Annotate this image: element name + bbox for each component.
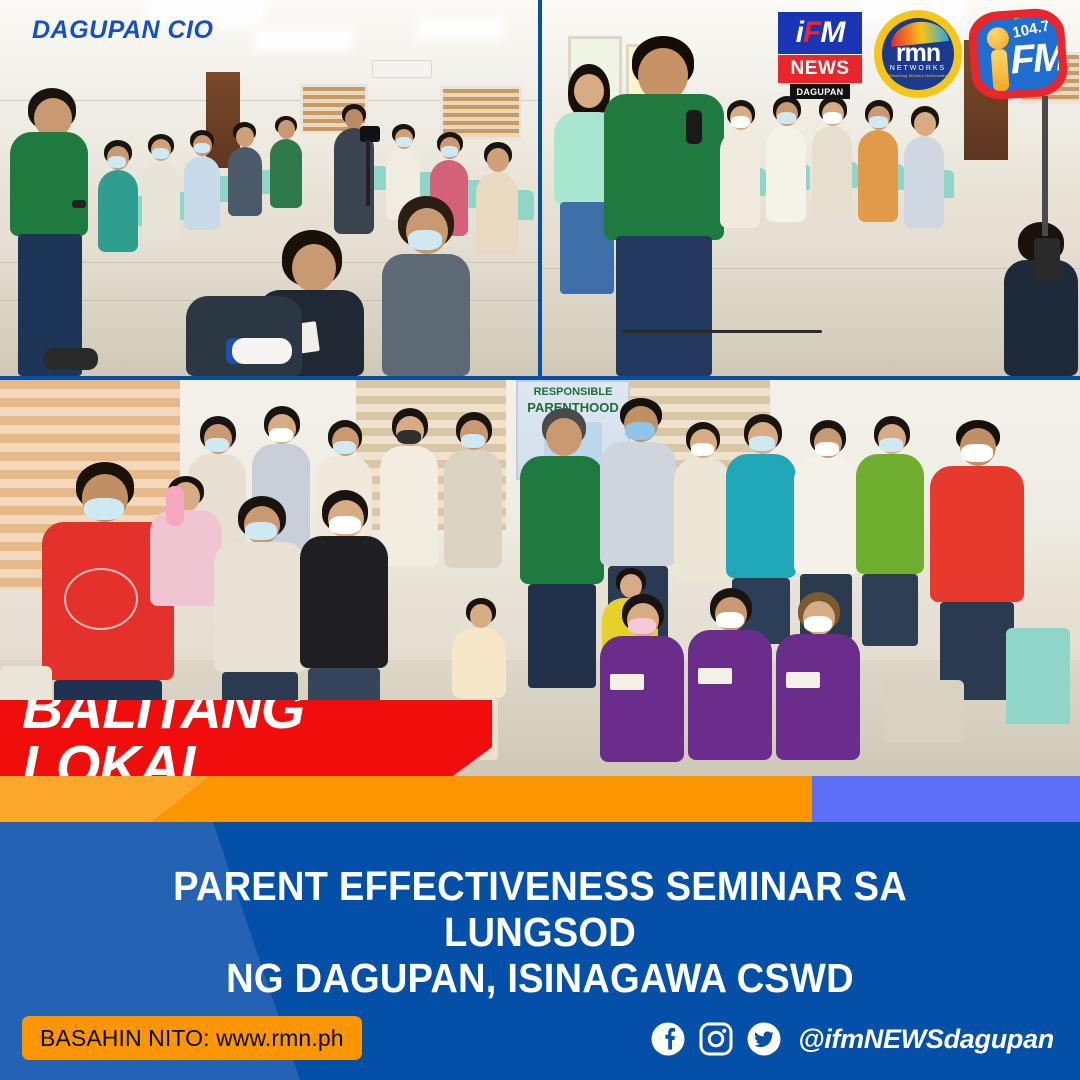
ifm-i-dot-icon xyxy=(986,27,1009,50)
facebook-icon[interactable] xyxy=(650,1021,686,1057)
headline-line-1: PARENT EFFECTIVENESS SEMINAR SA LUNGSOD xyxy=(94,864,987,956)
dagupan-cio-watermark: DAGUPAN CIO xyxy=(32,16,213,45)
instagram-icon[interactable] xyxy=(698,1021,734,1057)
rmn-networks-label: NETWORKS xyxy=(890,65,946,72)
group-member xyxy=(672,422,732,580)
read-more-label: BASAHIN NITO: www.rmn.ph xyxy=(40,1025,344,1052)
headline-line-2: NG DAGUPAN, ISINAGAWA CSWD xyxy=(94,956,987,1002)
attendee xyxy=(810,96,854,220)
air-conditioner xyxy=(372,60,432,78)
bag xyxy=(884,680,964,742)
read-more-pill[interactable]: BASAHIN NITO: www.rmn.ph xyxy=(22,1016,362,1060)
news-label: NEWS xyxy=(791,58,850,80)
ifm-i-stem-icon xyxy=(991,49,1010,92)
ceiling-light xyxy=(418,22,501,36)
attendee xyxy=(474,142,520,254)
foreground-attendee xyxy=(378,196,474,376)
speaker-person xyxy=(8,88,94,376)
ifm-fm-label: FM xyxy=(1009,37,1060,81)
cswd-officer xyxy=(520,408,606,688)
dagupan-label: DAGUPAN xyxy=(797,87,844,97)
ifm-inner-shape: DAGUPAN 104.7 FM xyxy=(976,15,1061,92)
headline: PARENT EFFECTIVENESS SEMINAR SA LUNGSOD … xyxy=(94,864,987,1002)
ifm-wordmark: iFM xyxy=(778,12,862,54)
staff-kneeling xyxy=(600,594,686,762)
attendee xyxy=(718,100,762,228)
dagupan-tag: DAGUPAN xyxy=(790,84,850,99)
group-member xyxy=(856,416,926,646)
rmn-inner-disc: rmn NETWORKS Reaching Millions Nationwid… xyxy=(882,18,954,90)
staff-kneeling xyxy=(688,588,774,760)
ifm-news-dagupan-logo: iFM NEWS DAGUPAN xyxy=(772,8,868,100)
news-graphic-poster: RESPONSIBLE PARENTHOOD xyxy=(0,0,1080,1080)
attendee xyxy=(96,140,140,252)
social-handle[interactable]: @ifmNEWSdagupan xyxy=(798,1024,1054,1055)
child xyxy=(150,476,224,676)
photo-top-left xyxy=(0,0,538,376)
attendee xyxy=(182,130,222,230)
microphone xyxy=(686,110,702,144)
rmn-tagline: Reaching Millions Nationwide xyxy=(889,73,947,78)
rmn-networks-logo: rmn NETWORKS Reaching Millions Nationwid… xyxy=(874,10,962,98)
social-links: @ifmNEWSdagupan xyxy=(650,1018,1054,1060)
twitter-icon[interactable] xyxy=(746,1021,782,1057)
balitang-lokal-banner: BALITANG LOKAL xyxy=(0,700,492,776)
attendee xyxy=(268,116,304,208)
staff-kneeling xyxy=(776,592,862,760)
shoe xyxy=(232,338,292,364)
tripod-pole xyxy=(1042,96,1048,236)
attendee xyxy=(226,122,264,216)
logo-group: iFM NEWS DAGUPAN rmn NETWORKS Reaching M… xyxy=(772,8,1068,100)
cable xyxy=(622,330,822,333)
accent-bar xyxy=(0,776,1080,822)
shoe xyxy=(44,348,98,370)
ceiling xyxy=(0,0,538,98)
ifm-104-7-logo: DAGUPAN 104.7 FM xyxy=(968,8,1068,100)
speaker-person xyxy=(604,36,728,376)
ceiling-light xyxy=(256,32,353,48)
attendee xyxy=(856,100,900,222)
group-member xyxy=(442,412,504,568)
poster-line1: RESPONSIBLE xyxy=(524,386,622,398)
attendee xyxy=(902,106,946,228)
news-wordmark: NEWS xyxy=(778,55,862,83)
microphone xyxy=(72,200,86,208)
stacked-chairs xyxy=(1006,628,1070,724)
camera-operator xyxy=(330,104,378,234)
attendee xyxy=(140,134,182,240)
foreground-camera-person xyxy=(1004,222,1080,376)
attendee xyxy=(764,96,808,222)
